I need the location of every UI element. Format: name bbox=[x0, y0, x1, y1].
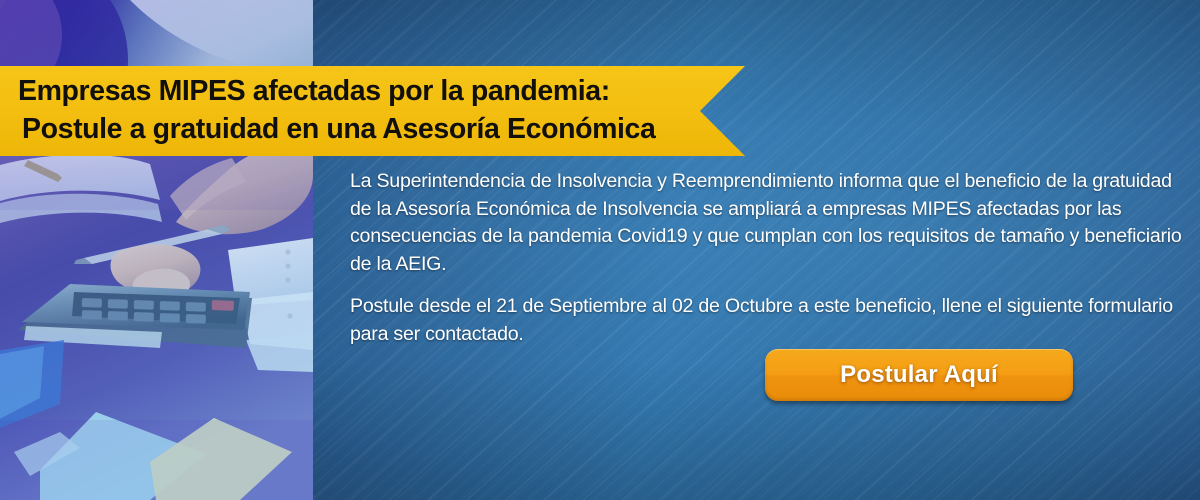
body-paragraph-1: La Superintendencia de Insolvencia y Ree… bbox=[350, 168, 1182, 278]
promo-banner: Empresas MIPES afectadas por la pandemia… bbox=[0, 0, 1200, 500]
body-paragraph-2: Postule desde el 21 de Septiembre al 02 … bbox=[350, 293, 1182, 348]
banner-title-line-1: Empresas MIPES afectadas por la pandemia… bbox=[18, 72, 700, 110]
banner-body-copy: La Superintendencia de Insolvencia y Ree… bbox=[350, 168, 1182, 348]
banner-title: Empresas MIPES afectadas por la pandemia… bbox=[0, 66, 700, 156]
postular-aqui-button[interactable]: Postular Aquí bbox=[765, 349, 1073, 401]
banner-title-line-2: Postule a gratuidad en una Asesoría Econ… bbox=[18, 110, 700, 148]
